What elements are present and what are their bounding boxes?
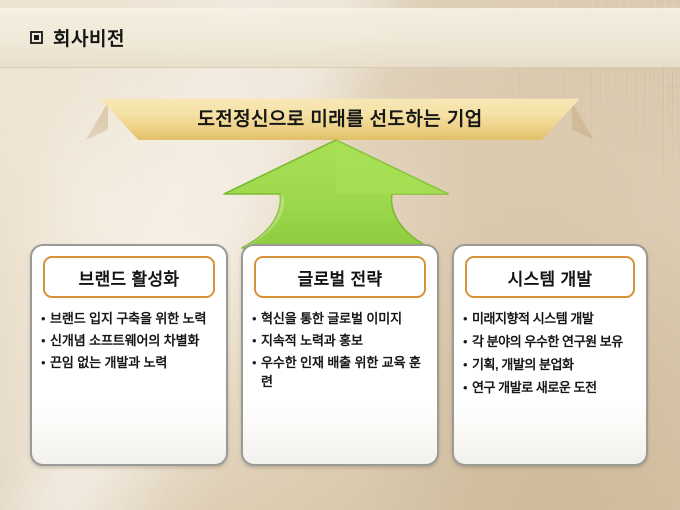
card-title: 시스템 개발 (508, 265, 593, 290)
list-item: • 혁신을 통한 글로벌 이미지 (252, 309, 431, 328)
list-item: • 미래지향적 시스템 개발 (463, 309, 640, 328)
list-item: • 신개념 소프트웨어의 차별화 (41, 331, 220, 350)
bullet-text: 혁신을 통한 글로벌 이미지 (261, 309, 402, 328)
bullet-dot-icon: • (463, 378, 472, 397)
bullet-dot-icon: • (463, 332, 472, 351)
card-title-box: 시스템 개발 (465, 256, 635, 298)
bullet-text: 미래지향적 시스템 개발 (472, 309, 593, 328)
list-item: • 각 분야의 우수한 연구원 보유 (463, 332, 640, 351)
list-item: • 기획, 개발의 분업화 (463, 355, 640, 374)
bullet-dot-icon: • (41, 309, 50, 328)
bullet-text: 지속적 노력과 홍보 (261, 331, 363, 350)
page-title: 회사비전 (53, 24, 125, 51)
list-item: • 연구 개발로 새로운 도전 (463, 378, 640, 397)
bullet-dot-icon: • (252, 353, 261, 372)
card-bullet-list: • 브랜드 입지 구축을 위한 노력 • 신개념 소프트웨어의 차별화 • 끈임… (41, 309, 220, 372)
bullet-dot-icon: • (252, 331, 261, 350)
vision-card-brand[interactable]: 브랜드 활성화 • 브랜드 입지 구축을 위한 노력 • 신개념 소프트웨어의 … (30, 244, 228, 466)
bullet-text: 끈임 없는 개발과 노력 (50, 353, 167, 372)
bullet-text: 기획, 개발의 분업화 (472, 355, 574, 374)
card-bullet-list: • 미래지향적 시스템 개발 • 각 분야의 우수한 연구원 보유 • 기획, … (463, 309, 640, 397)
list-item: • 브랜드 입지 구축을 위한 노력 (41, 309, 220, 328)
bullet-dot-icon: • (463, 355, 472, 374)
square-bullet-icon (30, 31, 43, 44)
bullet-text: 신개념 소프트웨어의 차별화 (50, 331, 199, 350)
bullet-dot-icon: • (41, 331, 50, 350)
vision-banner: 도전정신으로 미래를 선도하는 기업 (100, 96, 580, 140)
list-item: • 끈임 없는 개발과 노력 (41, 353, 220, 372)
bullet-dot-icon: • (252, 309, 261, 328)
header: 회사비전 (0, 8, 680, 66)
card-title-box: 글로벌 전략 (254, 256, 426, 298)
up-arrow-icon (222, 138, 450, 250)
bullet-dot-icon: • (41, 353, 50, 372)
bullet-text: 각 분야의 우수한 연구원 보유 (472, 332, 623, 351)
banner-text: 도전정신으로 미래를 선도하는 기업 (100, 96, 580, 140)
bullet-text: 우수한 인재 배출 위한 교육 훈련 (261, 353, 431, 391)
card-bullet-list: • 혁신을 통한 글로벌 이미지 • 지속적 노력과 홍보 • 우수한 인재 배… (252, 309, 431, 391)
background-grid-texture-2 (510, 60, 680, 250)
bullet-text: 연구 개발로 새로운 도전 (472, 378, 597, 397)
vision-card-system[interactable]: 시스템 개발 • 미래지향적 시스템 개발 • 각 분야의 우수한 연구원 보유… (452, 244, 648, 466)
list-item: • 우수한 인재 배출 위한 교육 훈련 (252, 353, 431, 391)
bullet-dot-icon: • (463, 309, 472, 328)
card-title: 브랜드 활성화 (79, 265, 180, 290)
card-title: 글로벌 전략 (298, 265, 383, 290)
slide-canvas: 회사비전 도전정신으로 미래를 선도하는 기업 (0, 0, 680, 510)
vision-card-global[interactable]: 글로벌 전략 • 혁신을 통한 글로벌 이미지 • 지속적 노력과 홍보 • 우… (241, 244, 439, 466)
card-title-box: 브랜드 활성화 (43, 256, 215, 298)
list-item: • 지속적 노력과 홍보 (252, 331, 431, 350)
bullet-text: 브랜드 입지 구축을 위한 노력 (50, 309, 206, 328)
